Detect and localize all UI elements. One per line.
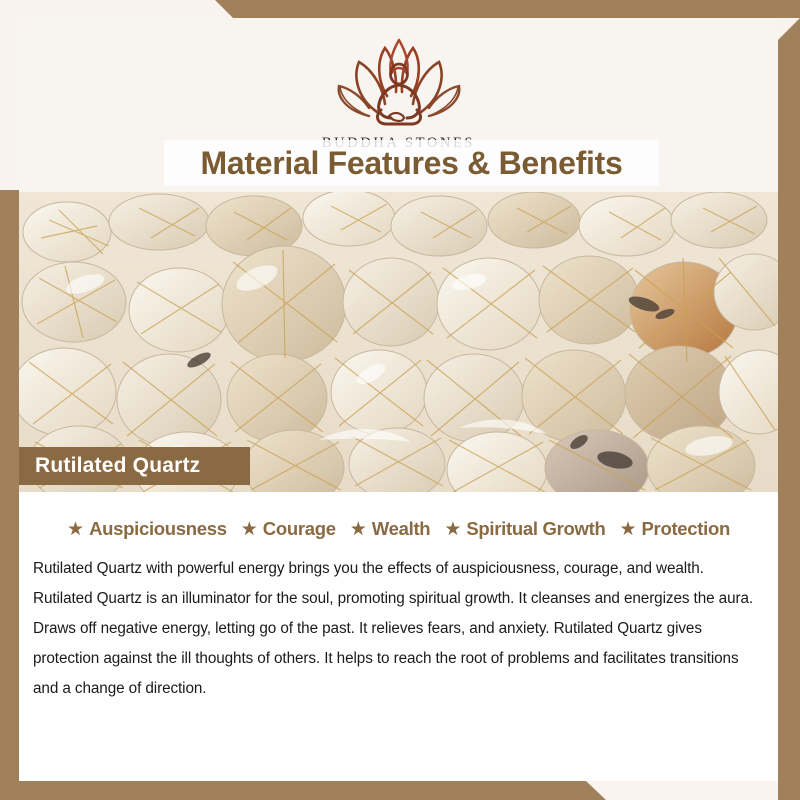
frame-right-bar — [778, 0, 800, 800]
star-icon: ★ — [444, 520, 461, 539]
benefit-item-protection: ★ Protection — [619, 518, 730, 540]
benefit-label: Courage — [263, 518, 336, 540]
infographic-page: BUDDHA STONES — [0, 0, 800, 800]
lotus-meditation-icon — [19, 30, 778, 133]
star-icon: ★ — [619, 520, 636, 539]
benefit-item-spiritual-growth: ★ Spiritual Growth — [444, 518, 605, 540]
star-icon: ★ — [241, 520, 258, 539]
benefit-item-auspiciousness: ★ Auspiciousness — [67, 518, 227, 540]
benefit-item-wealth: ★ Wealth — [350, 518, 431, 540]
brand-logo: BUDDHA STONES — [19, 30, 778, 152]
benefit-item-courage: ★ Courage — [241, 518, 336, 540]
frame-left-bar — [0, 190, 19, 800]
star-icon: ★ — [350, 520, 367, 539]
page-title: Material Features & Benefits — [201, 145, 623, 182]
benefits-list: ★ Auspiciousness ★ Courage ★ Wealth ★ Sp… — [19, 492, 778, 540]
benefit-label: Wealth — [372, 518, 431, 540]
page-title-band: Material Features & Benefits — [164, 140, 659, 186]
description-paragraph: Rutilated Quartz with powerful energy br… — [33, 554, 764, 704]
benefit-label: Protection — [642, 518, 730, 540]
stone-name-label: Rutilated Quartz — [19, 454, 216, 478]
benefit-label: Auspiciousness — [89, 518, 227, 540]
star-icon: ★ — [67, 520, 84, 539]
frame-bottom-bar — [0, 781, 800, 800]
content-section: ★ Auspiciousness ★ Courage ★ Wealth ★ Sp… — [19, 492, 778, 781]
stone-name-banner: Rutilated Quartz — [19, 447, 250, 485]
benefit-label: Spiritual Growth — [466, 518, 605, 540]
